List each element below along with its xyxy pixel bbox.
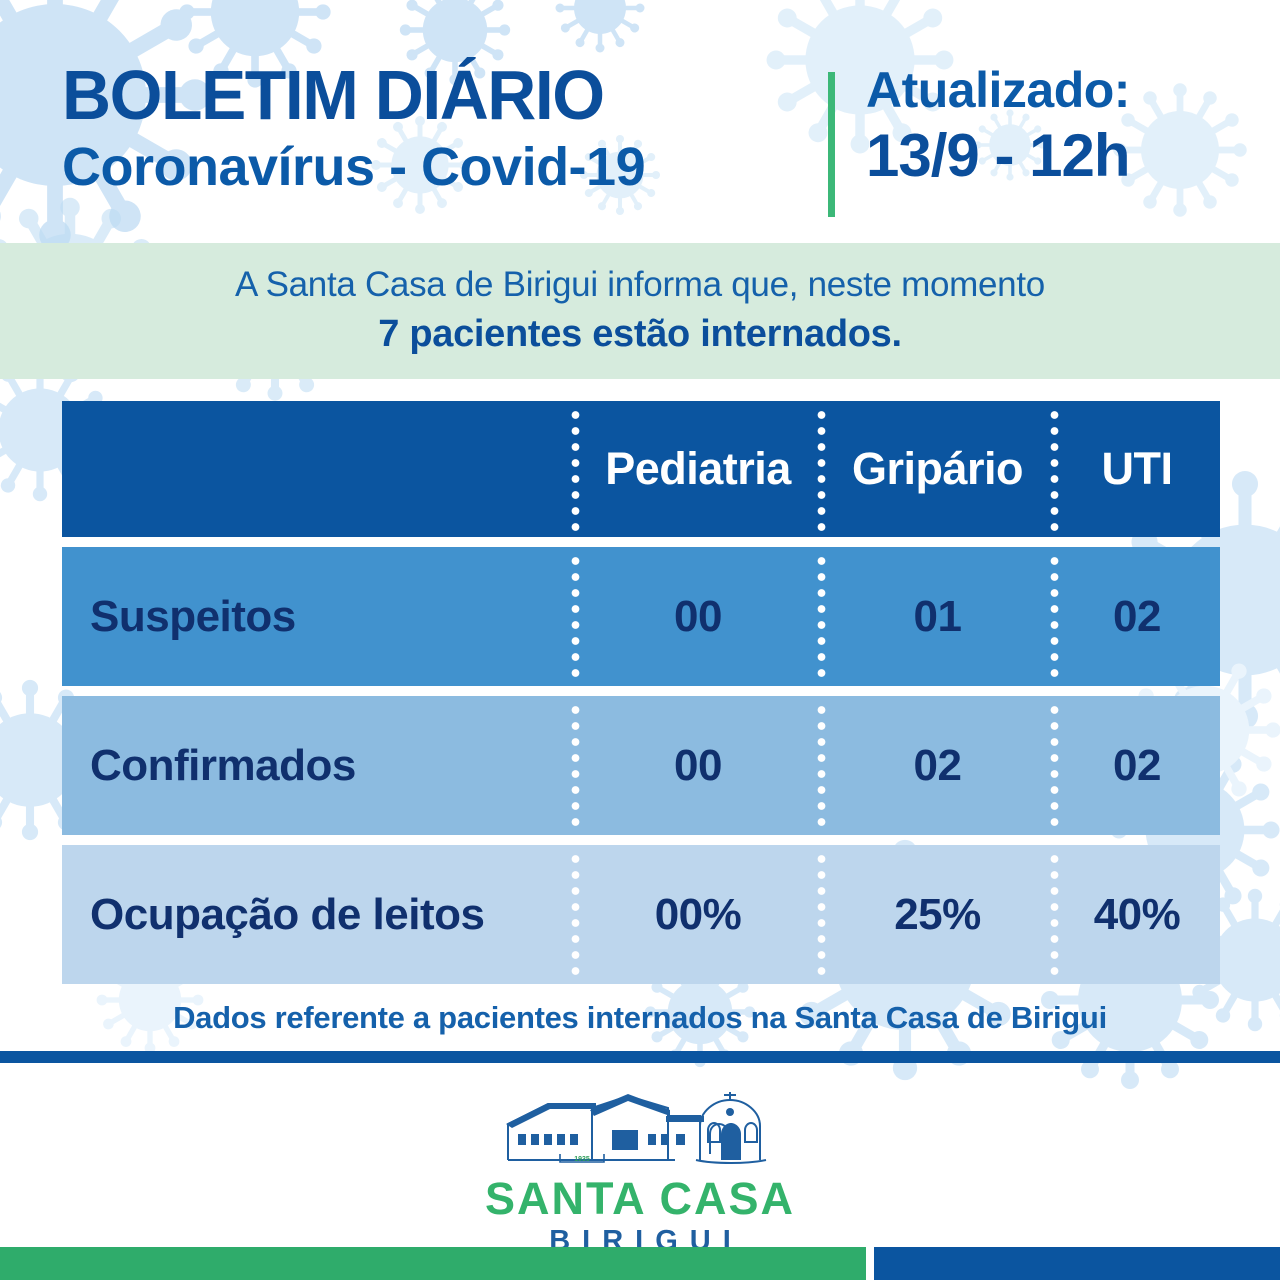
section-divider-bar [0, 1051, 1280, 1063]
header-updated-block: Atualizado: 13/9 - 12h [866, 64, 1266, 189]
bottom-bar-blue [874, 1247, 1280, 1280]
value-suspeitos-gripario: 01 [914, 592, 962, 642]
cell-suspeitos-pediatria: 00 [575, 547, 821, 686]
value-confirmados-gripario: 02 [914, 741, 962, 791]
notice-line-highlight: 7 pacientes estão internados. [378, 312, 902, 358]
value-ocupacao-gripario: 25% [894, 890, 981, 940]
hospital-building-icon: 1935 [500, 1090, 780, 1170]
header-cell-pediatria: Pediatria [575, 401, 821, 537]
occupancy-table: Pediatria Gripário UTI Suspeitos 00 01 [62, 401, 1220, 984]
logo-name: SANTA CASA [485, 1176, 795, 1221]
updated-label: Atualizado: [866, 64, 1266, 117]
value-confirmados-uti: 02 [1113, 741, 1161, 791]
covid-bulletin-poster: BOLETIM DIÁRIO Coronavírus - Covid-19 At… [0, 0, 1280, 1280]
row-label-ocupacao: Ocupação de leitos [90, 890, 484, 940]
cell-confirmados-pediatria: 00 [575, 696, 821, 835]
table-row: Ocupação de leitos 00% 25% 40% [62, 845, 1220, 984]
header-cell-uti: UTI [1054, 401, 1220, 537]
header-gripario-label: Gripário [852, 443, 1023, 495]
cell-ocupacao-pediatria: 00% [575, 845, 821, 984]
value-ocupacao-pediatria: 00% [655, 890, 742, 940]
poster-header: BOLETIM DIÁRIO Coronavírus - Covid-19 At… [0, 0, 1280, 238]
santa-casa-logo: 1935 SANTA CASA BIRIGUI [0, 1090, 1280, 1256]
table-footnote: Dados referente a pacientes internados n… [0, 1000, 1280, 1036]
row-label-suspeitos: Suspeitos [90, 592, 296, 642]
row-label-confirmados: Confirmados [90, 741, 356, 791]
cell-ocupacao-uti: 40% [1054, 845, 1220, 984]
value-confirmados-pediatria: 00 [674, 741, 722, 791]
value-suspeitos-uti: 02 [1113, 592, 1161, 642]
page-subtitle: Coronavírus - Covid-19 [62, 138, 814, 197]
cell-ocupacao-gripario: 25% [821, 845, 1054, 984]
header-cell-gripario: Gripário [821, 401, 1054, 537]
notice-line-primary: A Santa Casa de Birigui informa que, nes… [235, 264, 1045, 306]
logo-year-label: 1935 [574, 1156, 590, 1163]
cell-confirmados-gripario: 02 [821, 696, 1054, 835]
header-uti-label: UTI [1102, 443, 1173, 495]
row-label-cell: Suspeitos [62, 547, 575, 686]
page-title: BOLETIM DIÁRIO [62, 60, 791, 130]
updated-timestamp: 13/9 - 12h [866, 123, 1266, 189]
bottom-bar-green [0, 1247, 866, 1280]
notice-band: A Santa Casa de Birigui informa que, nes… [0, 243, 1280, 379]
value-suspeitos-pediatria: 00 [674, 592, 722, 642]
row-label-cell: Confirmados [62, 696, 575, 835]
header-pediatria-label: Pediatria [605, 443, 791, 495]
table-header-row: Pediatria Gripário UTI [62, 401, 1220, 537]
cell-suspeitos-uti: 02 [1054, 547, 1220, 686]
row-label-cell: Ocupação de leitos [62, 845, 575, 984]
header-divider [828, 72, 835, 217]
table-row: Suspeitos 00 01 02 [62, 547, 1220, 686]
header-cell-blank [62, 401, 575, 537]
table-row: Confirmados 00 02 02 [62, 696, 1220, 835]
cell-suspeitos-gripario: 01 [821, 547, 1054, 686]
cell-confirmados-uti: 02 [1054, 696, 1220, 835]
header-title-block: BOLETIM DIÁRIO Coronavírus - Covid-19 [62, 60, 814, 197]
value-ocupacao-uti: 40% [1094, 890, 1181, 940]
